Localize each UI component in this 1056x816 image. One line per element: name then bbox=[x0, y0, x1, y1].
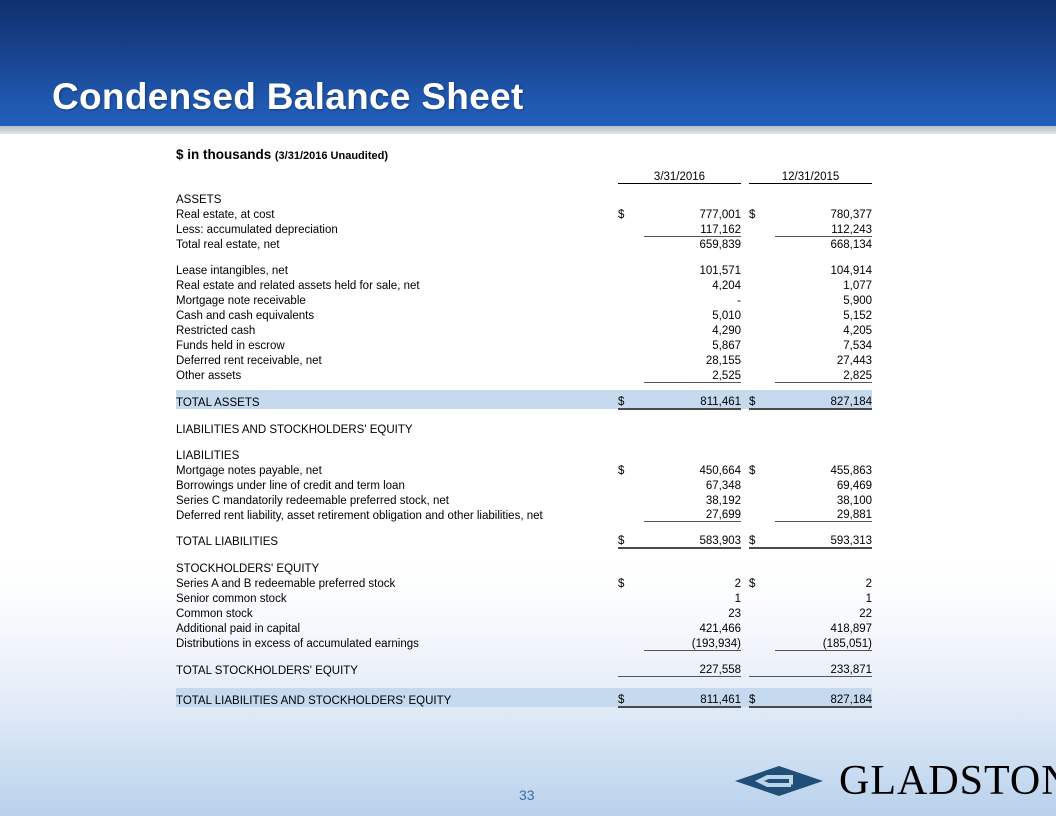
row-label: TOTAL LIABILITIES AND STOCKHOLDERS' EQUI… bbox=[176, 688, 618, 707]
row-currency-1 bbox=[618, 277, 644, 292]
banner-divider bbox=[0, 126, 1056, 134]
row-value-1: 1 bbox=[644, 590, 741, 605]
row-currency-1: $ bbox=[618, 575, 644, 590]
spacer bbox=[176, 548, 872, 560]
section-label: LIABILITIES AND STOCKHOLDERS' EQUITY bbox=[176, 421, 618, 436]
balance-sheet: $ in thousands (3/31/2016 Unaudited) 3/3… bbox=[176, 147, 876, 708]
table-row-mortgage-note-receivable: Mortgage note receivable - 5,900 bbox=[176, 292, 872, 307]
row-value-2: 2 bbox=[775, 575, 872, 590]
row-value-1: 27,699 bbox=[644, 507, 741, 522]
row-currency-2 bbox=[749, 236, 775, 251]
row-currency-2: $ bbox=[749, 575, 775, 590]
row-value-1: 38,192 bbox=[644, 492, 741, 507]
row-label: Real estate, at cost bbox=[176, 206, 618, 221]
spacer bbox=[176, 436, 872, 447]
row-value-2: 827,184 bbox=[775, 390, 872, 409]
row-label: Borrowings under line of credit and term… bbox=[176, 477, 618, 492]
row-currency-1 bbox=[618, 236, 644, 251]
row-value-2: 69,469 bbox=[775, 477, 872, 492]
row-value-1: 117,162 bbox=[644, 221, 741, 236]
row-value-2: 7,534 bbox=[775, 337, 872, 352]
row-label: TOTAL STOCKHOLDERS' EQUITY bbox=[176, 662, 618, 677]
row-currency-1 bbox=[618, 322, 644, 337]
table-row-total-assets: TOTAL ASSETS $ 811,461 $ 827,184 bbox=[176, 390, 872, 409]
units-note: (3/31/2016 Unaudited) bbox=[275, 150, 388, 162]
table-header-row: 3/31/2016 12/31/2015 bbox=[176, 171, 872, 184]
column-header-prior: 12/31/2015 bbox=[749, 171, 872, 184]
gladstone-diamond-icon bbox=[733, 764, 825, 798]
row-value-1: 4,290 bbox=[644, 322, 741, 337]
row-value-1: 5,010 bbox=[644, 307, 741, 322]
row-value-2: 112,243 bbox=[775, 221, 872, 236]
row-label: Lease intangibles, net bbox=[176, 262, 618, 277]
row-value-1: - bbox=[644, 292, 741, 307]
row-currency-2: $ bbox=[749, 462, 775, 477]
row-label: Deferred rent liability, asset retiremen… bbox=[176, 507, 618, 522]
row-value-1: 67,348 bbox=[644, 477, 741, 492]
logo-wordmark: GLADSTONE bbox=[839, 760, 1056, 802]
table-row-other-assets: Other assets 2,525 2,825 bbox=[176, 367, 872, 382]
row-label: Cash and cash equivalents bbox=[176, 307, 618, 322]
row-value-2: 27,443 bbox=[775, 352, 872, 367]
page-number: 33 bbox=[519, 787, 535, 803]
table-row-total-liabilities: TOTAL LIABILITIES $ 583,903 $ 593,313 bbox=[176, 533, 872, 548]
row-currency-2 bbox=[749, 277, 775, 292]
row-currency-2 bbox=[749, 307, 775, 322]
row-label: Deferred rent receivable, net bbox=[176, 352, 618, 367]
row-value-1: 777,001 bbox=[644, 206, 741, 221]
row-value-2: 104,914 bbox=[775, 262, 872, 277]
row-value-2: 455,863 bbox=[775, 462, 872, 477]
spacer bbox=[176, 251, 872, 262]
row-label: Funds held in escrow bbox=[176, 337, 618, 352]
row-currency-1 bbox=[618, 635, 644, 650]
page-title: Condensed Balance Sheet bbox=[52, 76, 524, 118]
row-value-1: 101,571 bbox=[644, 262, 741, 277]
table-row-cash-and-equivalents: Cash and cash equivalents 5,010 5,152 bbox=[176, 307, 872, 322]
row-currency-1 bbox=[618, 292, 644, 307]
row-value-2: 593,313 bbox=[775, 533, 872, 548]
row-currency-2 bbox=[749, 292, 775, 307]
row-currency-2: $ bbox=[749, 688, 775, 707]
row-value-1: 659,839 bbox=[644, 236, 741, 251]
row-value-2: 233,871 bbox=[775, 662, 872, 677]
row-currency-1 bbox=[618, 477, 644, 492]
row-label: Less: accumulated depreciation bbox=[176, 221, 618, 236]
table-row-restricted-cash: Restricted cash 4,290 4,205 bbox=[176, 322, 872, 337]
row-currency-2: $ bbox=[749, 206, 775, 221]
row-value-1: 421,466 bbox=[644, 620, 741, 635]
row-value-1: 811,461 bbox=[644, 390, 741, 409]
row-value-2: 5,900 bbox=[775, 292, 872, 307]
company-logo: GLADSTONE bbox=[733, 760, 1056, 802]
table-row-total-stockholders-equity: TOTAL STOCKHOLDERS' EQUITY 227,558 233,8… bbox=[176, 662, 872, 677]
row-currency-2 bbox=[749, 605, 775, 620]
slide: Condensed Balance Sheet $ in thousands (… bbox=[0, 0, 1056, 816]
table-row-additional-paid-in-capital: Additional paid in capital 421,466 418,8… bbox=[176, 620, 872, 635]
spacer bbox=[176, 409, 872, 421]
row-value-2: 2,825 bbox=[775, 367, 872, 382]
row-currency-1 bbox=[618, 221, 644, 236]
row-value-1: 583,903 bbox=[644, 533, 741, 548]
units-line: $ in thousands (3/31/2016 Unaudited) bbox=[176, 147, 876, 162]
row-value-2: 827,184 bbox=[775, 688, 872, 707]
row-value-2: 780,377 bbox=[775, 206, 872, 221]
row-currency-1 bbox=[618, 507, 644, 522]
row-label: Mortgage notes payable, net bbox=[176, 462, 618, 477]
table-row-total-liabilities-equity: TOTAL LIABILITIES AND STOCKHOLDERS' EQUI… bbox=[176, 688, 872, 707]
table-row-mortgage-notes-payable: Mortgage notes payable, net $ 450,664 $ … bbox=[176, 462, 872, 477]
table-row-senior-common-stock: Senior common stock 1 1 bbox=[176, 590, 872, 605]
row-value-2: 418,897 bbox=[775, 620, 872, 635]
row-currency-1: $ bbox=[618, 533, 644, 548]
table-row-series-ab-preferred: Series A and B redeemable preferred stoc… bbox=[176, 575, 872, 590]
row-currency-2 bbox=[749, 367, 775, 382]
row-label: Other assets bbox=[176, 367, 618, 382]
table-row-total-real-estate-net: Total real estate, net 659,839 668,134 bbox=[176, 236, 872, 251]
row-currency-2: $ bbox=[749, 390, 775, 409]
row-label: Total real estate, net bbox=[176, 236, 618, 251]
row-currency-1 bbox=[618, 662, 644, 677]
spacer bbox=[176, 522, 872, 534]
column-header-current: 3/31/2016 bbox=[618, 171, 741, 184]
spacer bbox=[176, 382, 872, 390]
row-currency-1 bbox=[618, 307, 644, 322]
row-currency-1: $ bbox=[618, 390, 644, 409]
header-gap bbox=[741, 171, 749, 184]
row-value-2: 668,134 bbox=[775, 236, 872, 251]
row-label: Series A and B redeemable preferred stoc… bbox=[176, 575, 618, 590]
row-currency-1 bbox=[618, 352, 644, 367]
section-heading-liabilities: LIABILITIES bbox=[176, 447, 872, 462]
row-currency-1 bbox=[618, 492, 644, 507]
row-value-1: 227,558 bbox=[644, 662, 741, 677]
row-currency-2 bbox=[749, 221, 775, 236]
balance-sheet-table: 3/31/2016 12/31/2015 ASSETS Real estate,… bbox=[176, 171, 872, 708]
section-label: STOCKHOLDERS' EQUITY bbox=[176, 560, 618, 575]
table-row-deferred-rent-receivable: Deferred rent receivable, net 28,155 27,… bbox=[176, 352, 872, 367]
spacer bbox=[176, 650, 872, 662]
row-value-2: 4,205 bbox=[775, 322, 872, 337]
section-heading-equity: STOCKHOLDERS' EQUITY bbox=[176, 560, 872, 575]
row-currency-1 bbox=[618, 590, 644, 605]
row-value-1: 811,461 bbox=[644, 688, 741, 707]
section-heading-assets: ASSETS bbox=[176, 191, 872, 206]
table-row-held-for-sale: Real estate and related assets held for … bbox=[176, 277, 872, 292]
units-label: $ in thousands bbox=[176, 147, 271, 162]
table-row-accumulated-depreciation: Less: accumulated depreciation 117,162 1… bbox=[176, 221, 872, 236]
row-currency-2 bbox=[749, 337, 775, 352]
row-value-1: 450,664 bbox=[644, 462, 741, 477]
row-currency-1 bbox=[618, 620, 644, 635]
row-value-1: 5,867 bbox=[644, 337, 741, 352]
row-currency-1: $ bbox=[618, 462, 644, 477]
table-row-funds-held-in-escrow: Funds held in escrow 5,867 7,534 bbox=[176, 337, 872, 352]
row-label: Distributions in excess of accumulated e… bbox=[176, 635, 618, 650]
row-value-1: 4,204 bbox=[644, 277, 741, 292]
row-currency-1: $ bbox=[618, 688, 644, 707]
row-value-2: 1,077 bbox=[775, 277, 872, 292]
row-label: Common stock bbox=[176, 605, 618, 620]
row-currency-2 bbox=[749, 262, 775, 277]
table-row-series-c-preferred: Series C mandatorily redeemable preferre… bbox=[176, 492, 872, 507]
row-label: Restricted cash bbox=[176, 322, 618, 337]
row-label: Mortgage note receivable bbox=[176, 292, 618, 307]
row-currency-2 bbox=[749, 590, 775, 605]
table-row-borrowings-line-of-credit: Borrowings under line of credit and term… bbox=[176, 477, 872, 492]
row-label: Senior common stock bbox=[176, 590, 618, 605]
row-currency-1 bbox=[618, 367, 644, 382]
row-currency-1 bbox=[618, 605, 644, 620]
row-currency-2 bbox=[749, 477, 775, 492]
row-currency-1 bbox=[618, 262, 644, 277]
section-label: LIABILITIES bbox=[176, 447, 618, 462]
row-value-2: 22 bbox=[775, 605, 872, 620]
row-label: TOTAL LIABILITIES bbox=[176, 533, 618, 548]
row-currency-2 bbox=[749, 507, 775, 522]
row-label: Additional paid in capital bbox=[176, 620, 618, 635]
section-heading-liabilities-equity: LIABILITIES AND STOCKHOLDERS' EQUITY bbox=[176, 421, 872, 436]
row-label: Real estate and related assets held for … bbox=[176, 277, 618, 292]
table-row-common-stock: Common stock 23 22 bbox=[176, 605, 872, 620]
row-value-1: 2,525 bbox=[644, 367, 741, 382]
row-label: TOTAL ASSETS bbox=[176, 390, 618, 409]
row-currency-2 bbox=[749, 620, 775, 635]
row-currency-2 bbox=[749, 322, 775, 337]
row-currency-2 bbox=[749, 662, 775, 677]
row-label: Series C mandatorily redeemable preferre… bbox=[176, 492, 618, 507]
row-currency-1 bbox=[618, 337, 644, 352]
row-value-1: 2 bbox=[644, 575, 741, 590]
row-currency-1: $ bbox=[618, 206, 644, 221]
row-value-2: (185,051) bbox=[775, 635, 872, 650]
table-row-deferred-rent-liability: Deferred rent liability, asset retiremen… bbox=[176, 507, 872, 522]
table-row-lease-intangibles: Lease intangibles, net 101,571 104,914 bbox=[176, 262, 872, 277]
row-value-2: 29,881 bbox=[775, 507, 872, 522]
row-currency-2 bbox=[749, 635, 775, 650]
header-spacer bbox=[176, 171, 618, 184]
row-value-2: 5,152 bbox=[775, 307, 872, 322]
row-value-1: (193,934) bbox=[644, 635, 741, 650]
table-row-distributions-excess: Distributions in excess of accumulated e… bbox=[176, 635, 872, 650]
row-currency-2 bbox=[749, 492, 775, 507]
row-value-2: 1 bbox=[775, 590, 872, 605]
spacer bbox=[176, 677, 872, 689]
row-value-1: 28,155 bbox=[644, 352, 741, 367]
row-value-1: 23 bbox=[644, 605, 741, 620]
section-label: ASSETS bbox=[176, 191, 618, 206]
table-row-real-estate-at-cost: Real estate, at cost $ 777,001 $ 780,377 bbox=[176, 206, 872, 221]
row-currency-2 bbox=[749, 352, 775, 367]
spacer bbox=[176, 184, 872, 192]
row-value-2: 38,100 bbox=[775, 492, 872, 507]
row-currency-2: $ bbox=[749, 533, 775, 548]
